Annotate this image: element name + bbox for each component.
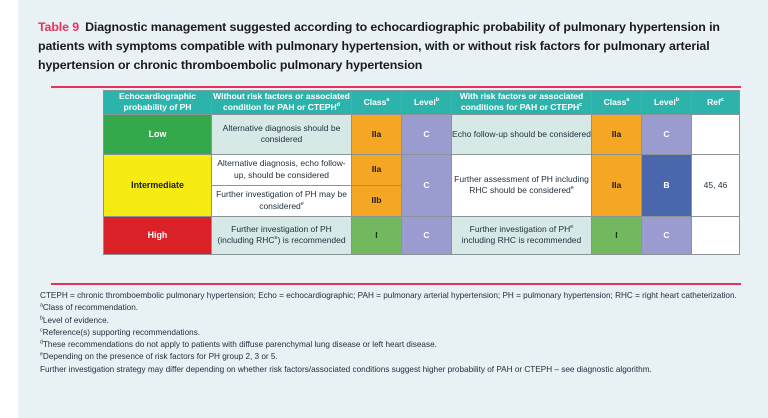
figure-content: Table 9Diagnostic management suggested a… xyxy=(18,0,768,418)
footnote-final: Further investigation strategy may diffe… xyxy=(40,364,756,376)
high-level-1: C xyxy=(402,216,452,254)
table-caption: Table 9Diagnostic management suggested a… xyxy=(18,0,768,75)
header-level-1: Levelb xyxy=(402,91,452,115)
footnote-e-text: Depending on the presence of risk factor… xyxy=(43,352,278,361)
table-footnotes: CTEPH = chronic thromboembolic pulmonary… xyxy=(40,290,756,376)
header-with-risk: With risk factors or associated conditio… xyxy=(452,91,592,115)
high-without-risk-text-2: ) is recommended xyxy=(278,235,346,245)
intermediate-without-risk-action-2: Further investigation of PH may be consi… xyxy=(212,185,352,216)
table-number-label: Table 9 xyxy=(38,20,79,34)
footnote-b: bLevel of evidence. xyxy=(40,315,756,327)
header-level-1-sup: b xyxy=(436,97,439,103)
footnote-abbreviations: CTEPH = chronic thromboembolic pulmonary… xyxy=(40,290,756,302)
low-class-2: IIa xyxy=(592,114,642,154)
row-label-high: High xyxy=(104,216,212,254)
rule-top xyxy=(51,86,741,88)
low-ref xyxy=(692,114,740,154)
intermediate-class-1b: IIb xyxy=(352,185,402,216)
footnote-d: dThese recommendations do not apply to p… xyxy=(40,339,756,351)
intermediate-class-2: IIa xyxy=(592,154,642,216)
high-with-risk-text-1: Further investigation of PH xyxy=(470,224,571,234)
footnote-a: aClass of recommendation. xyxy=(40,302,756,314)
table-figure-page: Table 9Diagnostic management suggested a… xyxy=(0,0,768,418)
intermediate-ref: 45, 46 xyxy=(692,154,740,216)
intermediate-without-risk-action-1: Alternative diagnosis, echo follow-up, s… xyxy=(212,154,352,185)
header-level-2: Levelb xyxy=(642,91,692,115)
footnote-d-text: These recommendations do not apply to pa… xyxy=(43,340,437,349)
intermediate-with-risk-text: Further assessment of PH including RHC s… xyxy=(454,174,589,195)
high-with-risk-sup: e xyxy=(570,224,573,230)
header-level-1-text: Level xyxy=(414,97,436,107)
header-without-risk-sup: d xyxy=(337,102,340,108)
page-left-margin xyxy=(0,0,18,418)
intermediate-class-1a: IIa xyxy=(352,154,402,185)
table-row-high: High Further investigation of PH (includ… xyxy=(104,216,740,254)
intermediate-level-2: B xyxy=(642,154,692,216)
footnote-c-text: Reference(s) supporting recommendations. xyxy=(43,328,200,337)
header-class-2-text: Class xyxy=(604,97,627,107)
table-row-intermediate-a: Intermediate Alternative diagnosis, echo… xyxy=(104,154,740,185)
footnote-a-text: Class of recommendation. xyxy=(43,303,138,312)
header-probability: Echocardiographic probability of PH xyxy=(104,91,212,115)
low-with-risk-action: Echo follow-up should be considered xyxy=(452,114,592,154)
high-class-1: I xyxy=(352,216,402,254)
row-label-low: Low xyxy=(104,114,212,154)
low-class-1: IIa xyxy=(352,114,402,154)
header-ref-sup: c xyxy=(721,97,724,103)
header-without-risk: Without risk factors or associated condi… xyxy=(212,91,352,115)
table-header-row: Echocardiographic probability of PH With… xyxy=(104,91,740,115)
diagnostic-management-table: Echocardiographic probability of PH With… xyxy=(103,90,740,255)
high-class-2: I xyxy=(592,216,642,254)
footnote-c: cReference(s) supporting recommendations… xyxy=(40,327,756,339)
high-without-risk-action: Further investigation of PH (including R… xyxy=(212,216,352,254)
high-with-risk-action: Further investigation of PHe including R… xyxy=(452,216,592,254)
high-with-risk-text-2: including RHC is recommended xyxy=(462,235,582,245)
header-class-1: Classa xyxy=(352,91,402,115)
header-class-1-text: Class xyxy=(364,97,387,107)
table-row-low: Low Alternative diagnosis should be cons… xyxy=(104,114,740,154)
header-class-2-sup: a xyxy=(626,97,629,103)
header-with-risk-sup: c xyxy=(579,102,582,108)
intermediate-without-risk-sup-2: e xyxy=(301,201,304,207)
row-label-intermediate: Intermediate xyxy=(104,154,212,216)
table-caption-text: Diagnostic management suggested accordin… xyxy=(38,20,720,72)
rule-bottom xyxy=(51,283,741,285)
intermediate-level-1: C xyxy=(402,154,452,216)
header-level-2-text: Level xyxy=(654,97,676,107)
high-ref xyxy=(692,216,740,254)
footnote-e: eDepending on the presence of risk facto… xyxy=(40,351,756,363)
header-ref: Refc xyxy=(692,91,740,115)
high-level-2: C xyxy=(642,216,692,254)
header-with-risk-text: With risk factors or associated conditio… xyxy=(460,91,584,112)
low-level-1: C xyxy=(402,114,452,154)
header-without-risk-text: Without risk factors or associated condi… xyxy=(213,91,350,112)
header-class-2: Classa xyxy=(592,91,642,115)
header-ref-text: Ref xyxy=(707,97,721,107)
header-class-1-sup: a xyxy=(386,97,389,103)
low-level-2: C xyxy=(642,114,692,154)
footnote-b-text: Level of evidence. xyxy=(43,316,109,325)
header-level-2-sup: b xyxy=(676,97,679,103)
intermediate-with-risk-action: Further assessment of PH including RHC s… xyxy=(452,154,592,216)
intermediate-without-risk-text-2: Further investigation of PH may be consi… xyxy=(216,189,347,210)
intermediate-with-risk-sup: e xyxy=(571,185,574,191)
low-without-risk-action: Alternative diagnosis should be consider… xyxy=(212,114,352,154)
